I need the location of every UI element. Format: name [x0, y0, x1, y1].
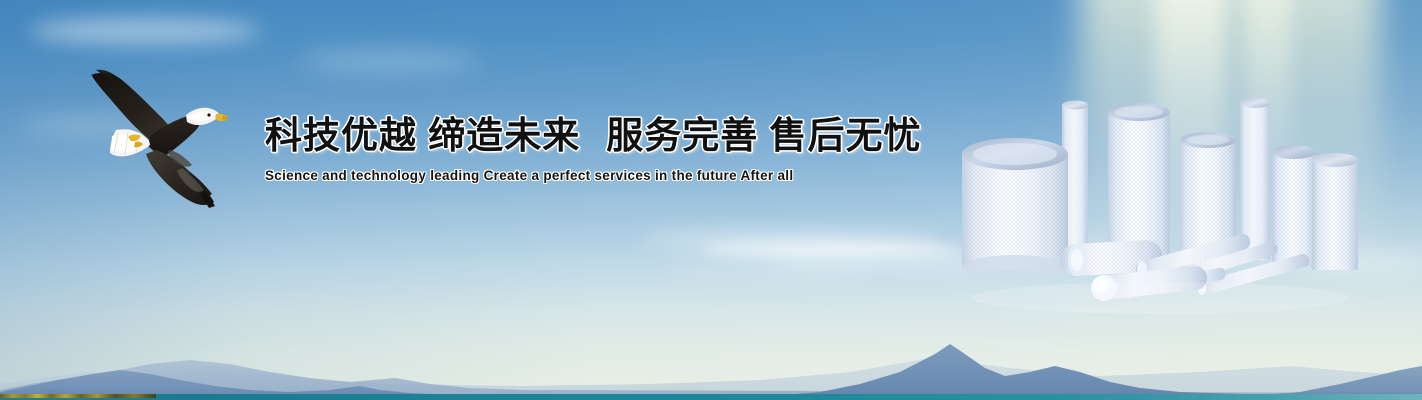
banner-subline: Science and technology leading Create a …: [265, 168, 885, 183]
eagle-icon: [78, 58, 238, 223]
cloud-wisp-icon: [660, 262, 880, 274]
filter-cartridge-products: [950, 90, 1370, 315]
banner-headline: 科技优越 缔造未来服务完善 售后无忧: [265, 113, 885, 159]
cloud-wisp-icon: [30, 18, 260, 44]
banner-copy: 科技优越 缔造未来服务完善 售后无忧 Science and technolog…: [265, 113, 885, 183]
hero-banner: 科技优越 缔造未来服务完善 售后无忧 Science and technolog…: [0, 0, 1422, 400]
headline-phrase-1: 科技优越 缔造未来: [265, 115, 580, 156]
cartridge-right-a: [1272, 145, 1316, 268]
cloud-wisp-icon: [300, 52, 480, 70]
water-strip: [0, 394, 1422, 400]
shoreline-strip: [0, 394, 156, 398]
cartridge-right-b: [1312, 153, 1358, 270]
headline-phrase-2: 服务完善 售后无忧: [606, 115, 921, 156]
cartridge-wide-drum: [962, 138, 1068, 281]
